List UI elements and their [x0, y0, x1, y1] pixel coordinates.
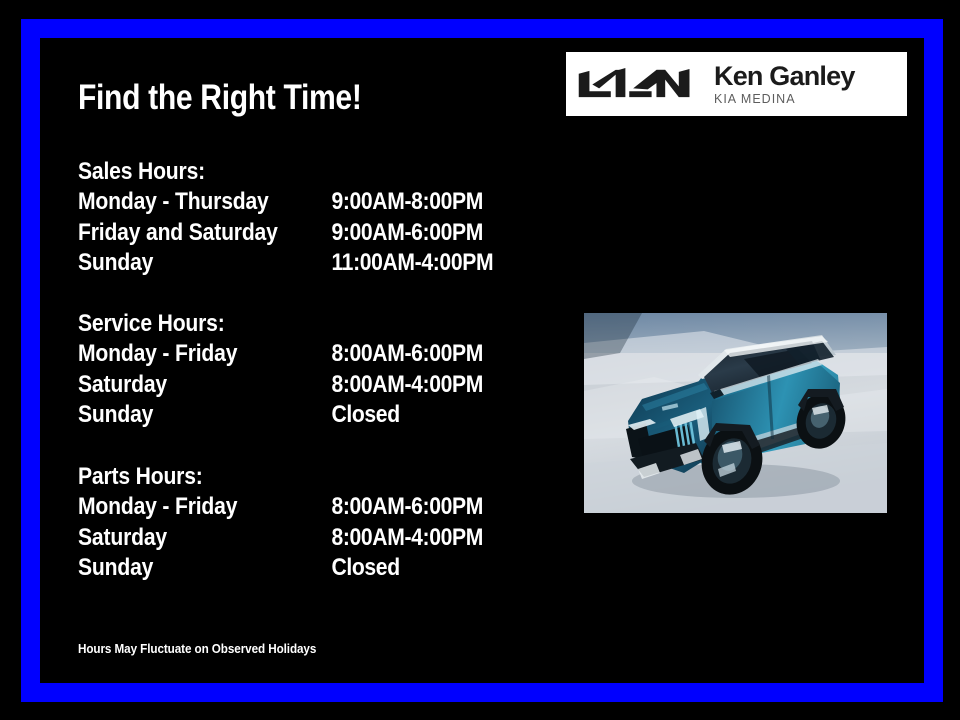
- hours-row-time: 8:00AM-6:00PM: [331, 492, 483, 523]
- hours-row: Friday and Saturday 9:00AM-6:00PM: [78, 218, 571, 249]
- hours-row-days: Sunday: [78, 553, 153, 584]
- section-heading-parts: Parts Hours:: [78, 461, 518, 492]
- hours-row-days: Sunday: [78, 400, 153, 431]
- hours-row-time: Closed: [331, 400, 399, 431]
- vehicle-photo: [584, 313, 887, 513]
- hours-block-sales: Sales Hours: Monday - Thursday 9:00AM-8:…: [78, 156, 578, 279]
- dealer-name: Ken Ganley: [714, 63, 855, 90]
- hours-row-time: 8:00AM-6:00PM: [331, 339, 483, 370]
- dealer-location: KIA MEDINA: [714, 93, 855, 106]
- hours-row: Monday - Thursday 9:00AM-8:00PM: [78, 187, 571, 218]
- hours-row-days: Monday - Thursday: [78, 187, 269, 218]
- kia-ev9-suv-photo: [584, 313, 887, 513]
- holiday-disclaimer: Hours May Fluctuate on Observed Holidays: [78, 641, 316, 656]
- hours-row: Saturday 8:00AM-4:00PM: [78, 523, 571, 554]
- hours-row: Monday - Friday 8:00AM-6:00PM: [78, 339, 571, 370]
- dealer-name-lockup: Ken Ganley KIA MEDINA: [714, 63, 855, 106]
- hours-row-time: 9:00AM-6:00PM: [331, 218, 483, 249]
- kia-logo-icon: [574, 67, 702, 101]
- hours-row-days: Sunday: [78, 248, 153, 279]
- hours-row-days: Monday - Friday: [78, 339, 237, 370]
- slide-canvas: Find the Right Time! Sales Hours: Monday…: [0, 0, 960, 720]
- hours-row: Sunday Closed: [78, 553, 571, 584]
- dealer-logo-banner: Ken Ganley KIA MEDINA: [566, 52, 907, 116]
- hours-row-days: Saturday: [78, 523, 167, 554]
- hours-row-time: 8:00AM-4:00PM: [331, 370, 483, 401]
- hours-row-days: Friday and Saturday: [78, 218, 278, 249]
- hours-row-time: Closed: [331, 553, 399, 584]
- hours-row-days: Monday - Friday: [78, 492, 237, 523]
- hours-block-service: Service Hours: Monday - Friday 8:00AM-6:…: [78, 308, 578, 431]
- section-heading-service: Service Hours:: [78, 308, 518, 339]
- hours-row-time: 11:00AM-4:00PM: [331, 248, 493, 279]
- hours-row-time: 8:00AM-4:00PM: [331, 523, 483, 554]
- hours-block-parts: Parts Hours: Monday - Friday 8:00AM-6:00…: [78, 461, 578, 584]
- page-title: Find the Right Time!: [78, 78, 362, 118]
- slide-content: Find the Right Time! Sales Hours: Monday…: [40, 38, 924, 683]
- hours-row: Monday - Friday 8:00AM-6:00PM: [78, 492, 571, 523]
- hours-row: Sunday Closed: [78, 400, 571, 431]
- hours-row-days: Saturday: [78, 370, 167, 401]
- section-heading-sales: Sales Hours:: [78, 156, 518, 187]
- hours-row: Saturday 8:00AM-4:00PM: [78, 370, 571, 401]
- hours-row-time: 9:00AM-8:00PM: [331, 187, 483, 218]
- hours-row: Sunday 11:00AM-4:00PM: [78, 248, 571, 279]
